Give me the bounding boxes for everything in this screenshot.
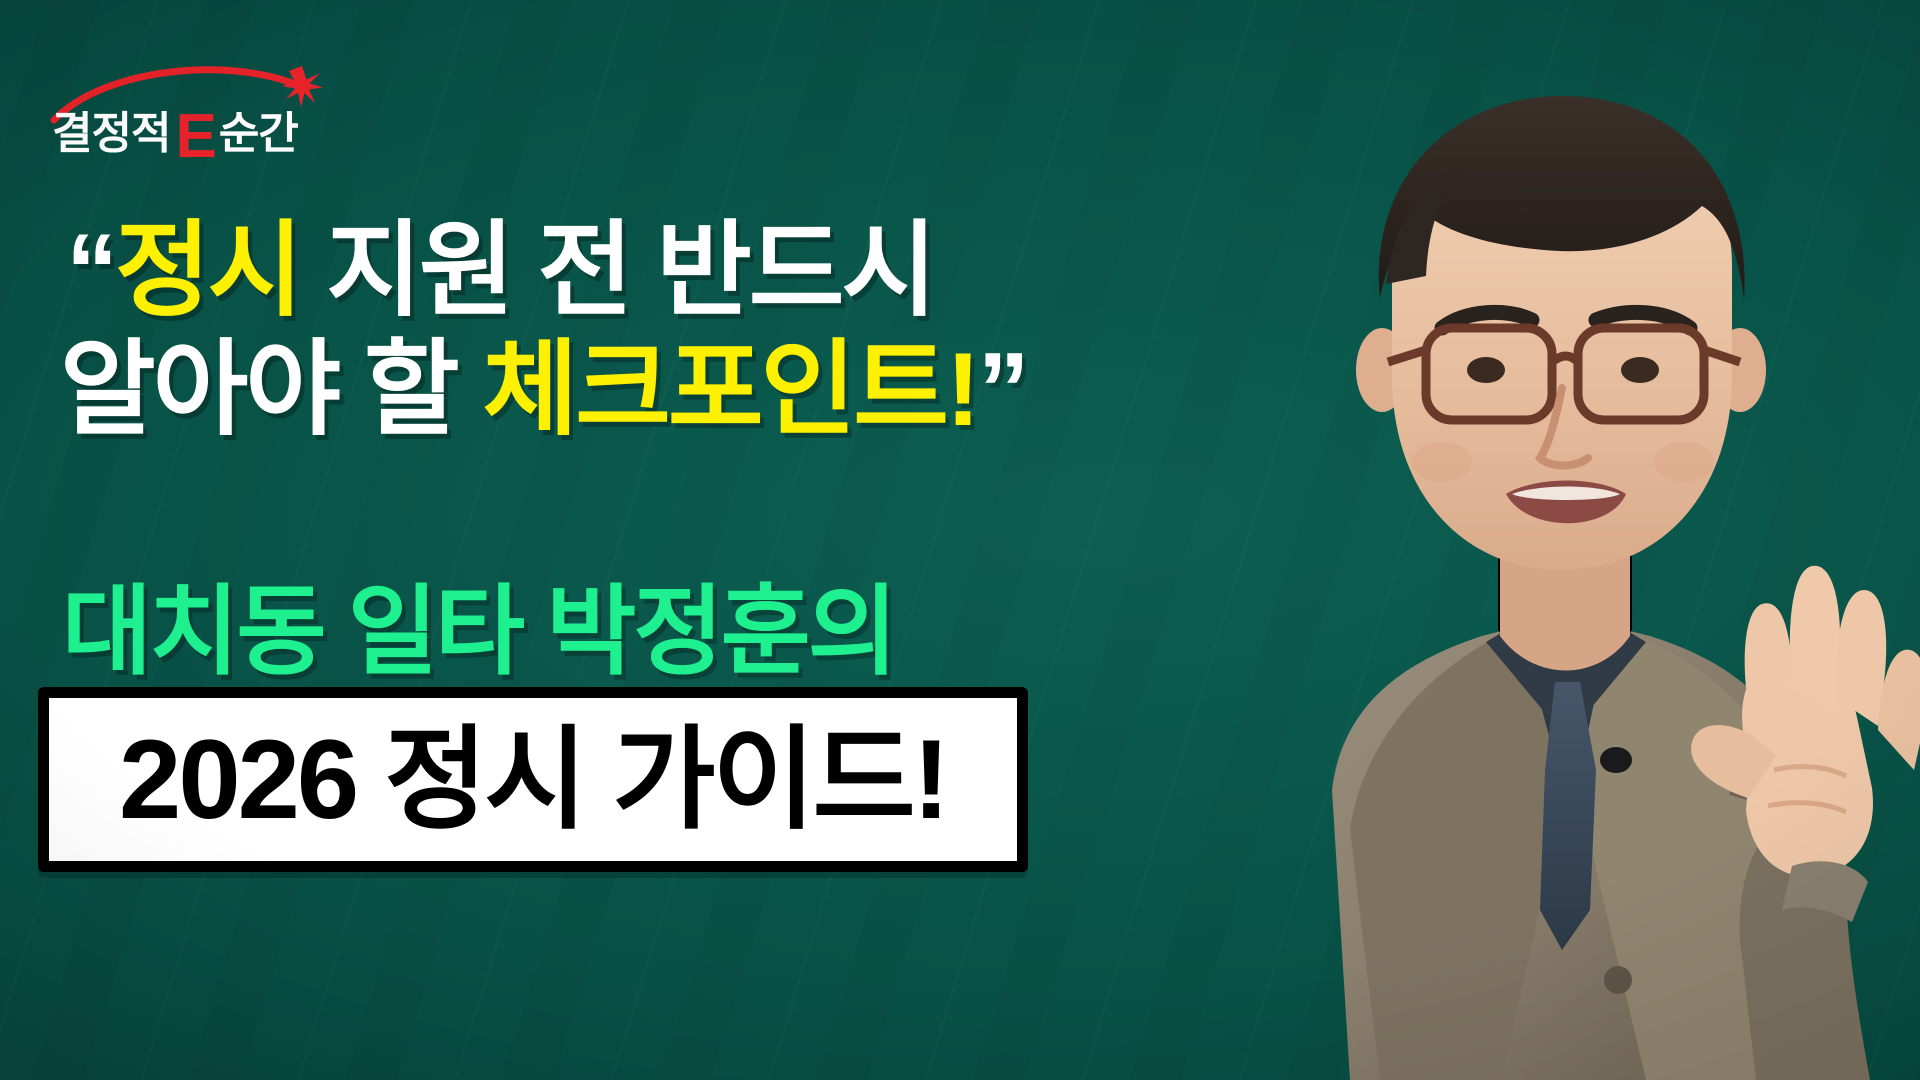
- left-eye: [1467, 357, 1505, 383]
- bottom-title-text: 2026 정시 가이드!: [119, 724, 947, 836]
- finger-index: [1745, 603, 1794, 722]
- headline-quote: “정시 지원 전 반드시 알아야 할 체크포인트!”: [66, 212, 1086, 449]
- presenter-photo: [1050, 70, 1920, 1080]
- finger-middle: [1790, 566, 1840, 708]
- subtitle-line: 대치동 일타 박정훈의: [62, 552, 895, 694]
- bottom-title-box: 2026 정시 가이드!: [38, 687, 1028, 872]
- glasses-icon: [1388, 328, 1740, 420]
- right-eye: [1621, 357, 1659, 383]
- logo-letter-e: E: [175, 111, 215, 164]
- headline-line-1-rest: 지원 전 반드시: [300, 213, 934, 329]
- jacket-button: [1604, 966, 1632, 994]
- red-starburst-icon: [282, 66, 323, 107]
- logo-text-before: 결정적: [52, 112, 170, 156]
- headline-line-1: “정시 지원 전 반드시: [66, 212, 1086, 331]
- presenter-suit: [1332, 624, 1820, 1080]
- presenter-hand: [1691, 566, 1920, 1080]
- lapel-mic-icon: [1600, 747, 1632, 773]
- channel-logo[interactable]: 결정적 E 순간: [46, 52, 346, 164]
- finger-thumb: [1691, 725, 1776, 798]
- headline-line-2: 알아야 할 체크포인트!”: [60, 331, 1086, 450]
- headline-line-2-highlight: 체크포인트!: [483, 332, 978, 448]
- close-quote-mark: ”: [978, 332, 1027, 448]
- open-quote-mark: “: [66, 213, 115, 329]
- headline-line-1-highlight: 정시: [115, 213, 300, 329]
- mouth: [1506, 481, 1626, 524]
- headline-line-2-rest: 알아야 할: [60, 332, 483, 448]
- youtube-thumbnail: 결정적 E 순간 “정시 지원 전 반드시 알아야 할 체크포인트!” 대치동 …: [0, 0, 1920, 1080]
- finger-ring: [1836, 590, 1886, 726]
- presenter-head: [1356, 96, 1766, 570]
- finger-pinky: [1878, 650, 1920, 770]
- logo-wordmark: 결정적 E 순간: [52, 108, 298, 161]
- logo-text-after: 순간: [219, 112, 298, 156]
